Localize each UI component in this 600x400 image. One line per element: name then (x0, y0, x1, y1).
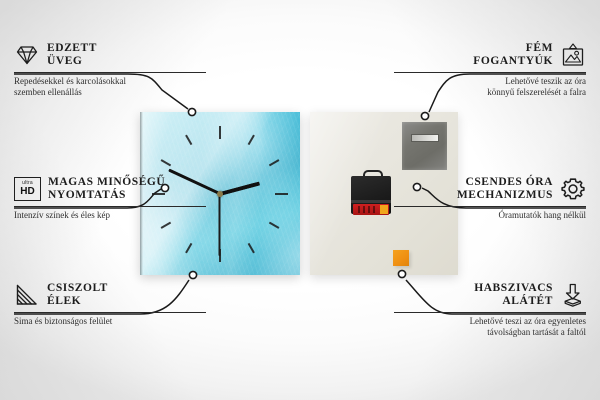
feature-title-line2: ALÁTÉT (502, 295, 553, 307)
feature-desc-line2: távolságban tartását a faltól (487, 327, 586, 337)
feature-title: FÉM FOGANTYÚK (473, 42, 553, 68)
feature-title-line2: ÉLEK (47, 295, 81, 307)
hanger-slot (411, 134, 439, 142)
feature-divider (394, 312, 586, 313)
feature-title: CSISZOLT ÉLEK (47, 282, 108, 308)
feature-desc-line2: könnyű felszerelését a falra (487, 87, 586, 97)
feature-title: MAGAS MINŐSÉGŰ NYOMTATÁS (48, 176, 165, 202)
feature-foam-pad: HABSZIVACS ALÁTÉT Lehetővé teszi az óra … (394, 282, 586, 338)
feature-divider (394, 206, 586, 207)
ultra-hd-icon-main-text: HD (20, 187, 34, 197)
feature-title-line2: NYOMTATÁS (48, 189, 126, 201)
feature-title-line1: CSENDES ÓRA (465, 176, 553, 188)
feature-title-line1: MAGAS MINŐSÉGŰ (48, 176, 165, 188)
foam-spacer-pad (393, 250, 409, 266)
feature-description: Óramutatók hang nélkül (394, 210, 586, 221)
polished-edge-icon (14, 282, 40, 308)
feature-header: CSISZOLT ÉLEK (14, 282, 206, 308)
feature-high-quality-print: ultra HD MAGAS MINŐSÉGŰ NYOMTATÁS Intenz… (14, 176, 206, 221)
feature-description: Lehetővé teszik az óra könnyű felszerelé… (394, 76, 586, 98)
infographic-canvas: EDZETT ÜVEG Repedésekkel és karcolásokka… (0, 0, 600, 400)
feature-header: CSENDES ÓRA MECHANIZMUS (394, 176, 586, 202)
feature-silent-mechanism: CSENDES ÓRA MECHANIZMUS Óramutatók hang … (394, 176, 586, 221)
feature-title-line1: FÉM (526, 42, 553, 54)
feature-desc-line1: Óramutatók hang nélkül (499, 210, 586, 220)
mechanism-band (351, 200, 391, 203)
feature-description: Intenzív színek és éles kép (14, 210, 206, 221)
picture-hanger-icon (560, 42, 586, 68)
metal-hanger-plate (402, 122, 447, 170)
ultra-hd-icon: ultra HD (14, 177, 41, 201)
feature-desc-line1: Lehetővé teszi az óra egyenletes (470, 316, 586, 326)
feature-title-line1: EDZETT (47, 42, 97, 54)
feature-title-line1: CSISZOLT (47, 282, 108, 294)
feature-header: ultra HD MAGAS MINŐSÉGŰ NYOMTATÁS (14, 176, 206, 202)
feature-title-line2: MECHANIZMUS (457, 189, 553, 201)
feature-desc-line2: szemben ellenállás (14, 87, 82, 97)
feature-header: FÉM FOGANTYÚK (394, 42, 586, 68)
feature-description: Lehetővé teszi az óra egyenletes távolsá… (394, 316, 586, 338)
feature-tempered-glass: EDZETT ÜVEG Repedésekkel és karcolásokka… (14, 42, 206, 98)
feature-divider (394, 72, 586, 73)
feature-divider (14, 206, 206, 207)
feature-description: Sima és biztonságos felület (14, 316, 206, 327)
gear-icon (560, 176, 586, 202)
feature-title: EDZETT ÜVEG (47, 42, 97, 68)
battery (353, 204, 389, 215)
feature-description: Repedésekkel és karcolásokkal szemben el… (14, 76, 206, 98)
feature-divider (14, 72, 206, 73)
feature-title-line2: FOGANTYÚK (473, 55, 553, 67)
feature-title: HABSZIVACS ALÁTÉT (474, 282, 553, 308)
feature-desc-line1: Lehetővé teszik az óra (505, 76, 586, 86)
feature-title: CSENDES ÓRA MECHANIZMUS (457, 176, 553, 202)
feature-metal-handles: FÉM FOGANTYÚK Lehetővé teszik az óra kön… (394, 42, 586, 98)
feature-title-line1: HABSZIVACS (474, 282, 553, 294)
clock-center-cap (217, 191, 223, 197)
feature-title-line2: ÜVEG (47, 55, 82, 67)
diamond-icon (14, 42, 40, 68)
feature-header: HABSZIVACS ALÁTÉT (394, 282, 586, 308)
down-arrow-pad-icon (560, 282, 586, 308)
battery-plus-terminal (380, 205, 388, 214)
feature-divider (14, 312, 206, 313)
feature-desc-line1: Repedésekkel és karcolásokkal (14, 76, 126, 86)
feature-desc-line1: Sima és biztonságos felület (14, 316, 112, 326)
feature-polished-edges: CSISZOLT ÉLEK Sima és biztonságos felüle… (14, 282, 206, 327)
clock-mechanism (351, 170, 391, 214)
mechanism-body (351, 176, 391, 214)
feature-desc-line1: Intenzív színek és éles kép (14, 210, 110, 220)
feature-header: EDZETT ÜVEG (14, 42, 206, 68)
